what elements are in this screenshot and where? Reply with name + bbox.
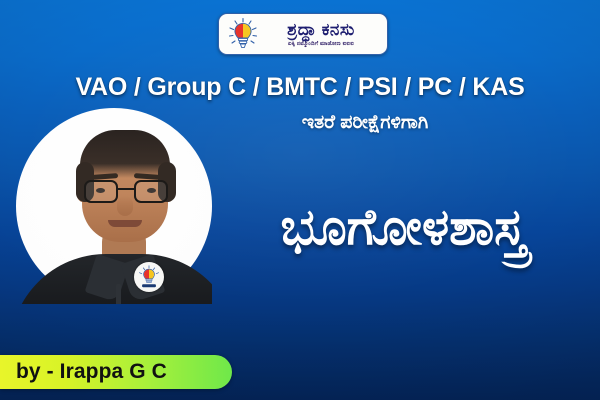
portrait-shirt-placket (116, 284, 121, 304)
lightbulb-icon (226, 17, 260, 51)
author-byline-bar: by - Irappa G C (0, 355, 232, 389)
portrait-mouth (108, 220, 142, 227)
brand-logo: ಶ್ರದ್ಧಾ ಕನಸು ಏಕ್ಕಿ ನಮ್ಮೊಂದಿಗೆ ಮಾಡೋಣ ಐಐಐ (218, 13, 388, 55)
brand-title: ಶ್ರದ್ಧಾ ಕನಸು (287, 20, 355, 39)
subject-title: ಭೂಗೋಳಶಾಸ್ತ್ರ (215, 196, 592, 258)
eyeglass-lens-right (134, 180, 168, 203)
eyeglass-bridge (118, 188, 134, 190)
other-exams-subline: ಇತರೆ ಪರೀಕ್ಷೆಗಳಿಗಾಗಿ (150, 110, 580, 136)
portrait-nose (117, 196, 133, 216)
brand-subtitle: ಏಕ್ಕಿ ನಮ್ಮೊಂದಿಗೆ ಮಾಡೋಣ ಐಐಐ (288, 40, 354, 48)
lightbulb-badge-icon (134, 262, 164, 292)
portrait-disc-background (16, 108, 212, 304)
poster-canvas: ಶ್ರದ್ಧಾ ಕನಸು ಏಕ್ಕಿ ನಮ್ಮೊಂದಿಗೆ ಮಾಡೋಣ ಐಐಐ (0, 0, 600, 400)
portrait-clip (16, 108, 212, 304)
eyeglass-lens-left (84, 180, 118, 203)
brand-logo-text: ಶ್ರದ್ಧಾ ಕನಸು ಏಕ್ಕಿ ನಮ್ಮೊಂದಿಗೆ ಮಾಡೋಣ ಐಐಐ (260, 20, 380, 48)
author-name: by - Irappa G C (0, 360, 167, 384)
exam-list-headline: VAO / Group C / BMTC / PSI / PC / KAS (0, 72, 600, 102)
instructor-portrait (8, 108, 218, 360)
